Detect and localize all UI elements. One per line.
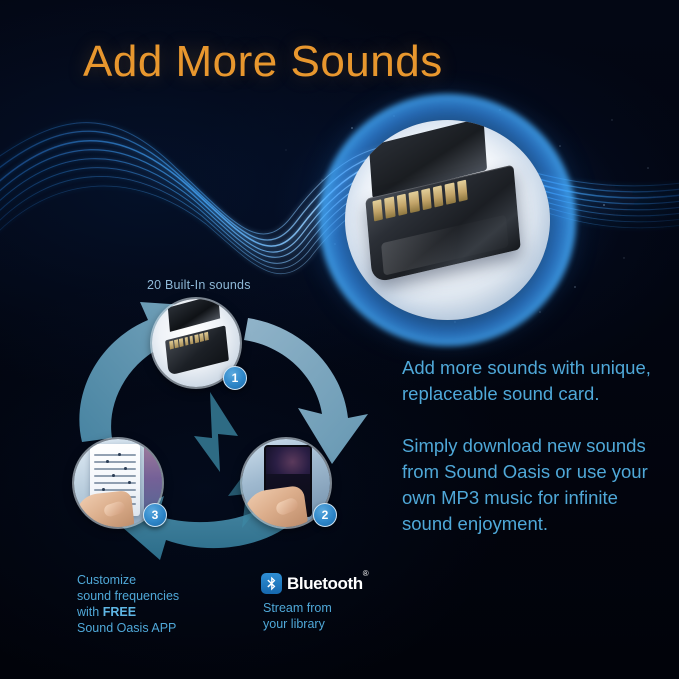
bluetooth-wordmark: Bluetooth®: [287, 574, 368, 594]
card-slot-shape: [168, 299, 220, 332]
step-badge-3: 3: [143, 503, 167, 527]
microsd-pins-small: [169, 332, 209, 350]
stream-line-1: Stream from: [263, 600, 393, 616]
step-badge-2: 2: [313, 503, 337, 527]
customize-line-3: with FREE: [77, 604, 247, 620]
album-art: [266, 447, 310, 474]
microsd-shape: [165, 325, 229, 375]
body-paragraph-1: Add more sounds with unique, replaceable…: [402, 355, 652, 407]
body-paragraph-2: Simply download new sounds from Sound Oa…: [402, 433, 652, 537]
bluetooth-trademark: ®: [363, 569, 369, 578]
cycle-diagram: 1 2: [60, 296, 380, 571]
customize-caption: Customize sound frequencies with FREE So…: [77, 572, 247, 636]
free-emphasis: FREE: [103, 605, 136, 619]
page-title: Add More Sounds: [83, 40, 443, 84]
customize-line-3-prefix: with: [77, 605, 103, 619]
bluetooth-icon: [261, 573, 282, 594]
bluetooth-logo: Bluetooth®: [261, 573, 368, 594]
stream-caption: Stream from your library: [263, 600, 393, 632]
builtin-sounds-label: 20 Built-In sounds: [147, 278, 251, 292]
bluetooth-word-text: Bluetooth: [287, 574, 363, 593]
customize-line-1: Customize: [77, 572, 247, 588]
customize-line-2: sound frequencies: [77, 588, 247, 604]
hero-disc: [345, 120, 550, 320]
promo-image: Add More Sounds 20 Built-In sounds: [0, 0, 679, 679]
hero-microsd-visual: [345, 120, 550, 320]
bluetooth-rune: [266, 576, 278, 591]
customize-line-4: Sound Oasis APP: [77, 620, 247, 636]
body-copy: Add more sounds with unique, replaceable…: [402, 355, 652, 537]
stream-line-2: your library: [263, 616, 393, 632]
step-badge-1: 1: [223, 366, 247, 390]
